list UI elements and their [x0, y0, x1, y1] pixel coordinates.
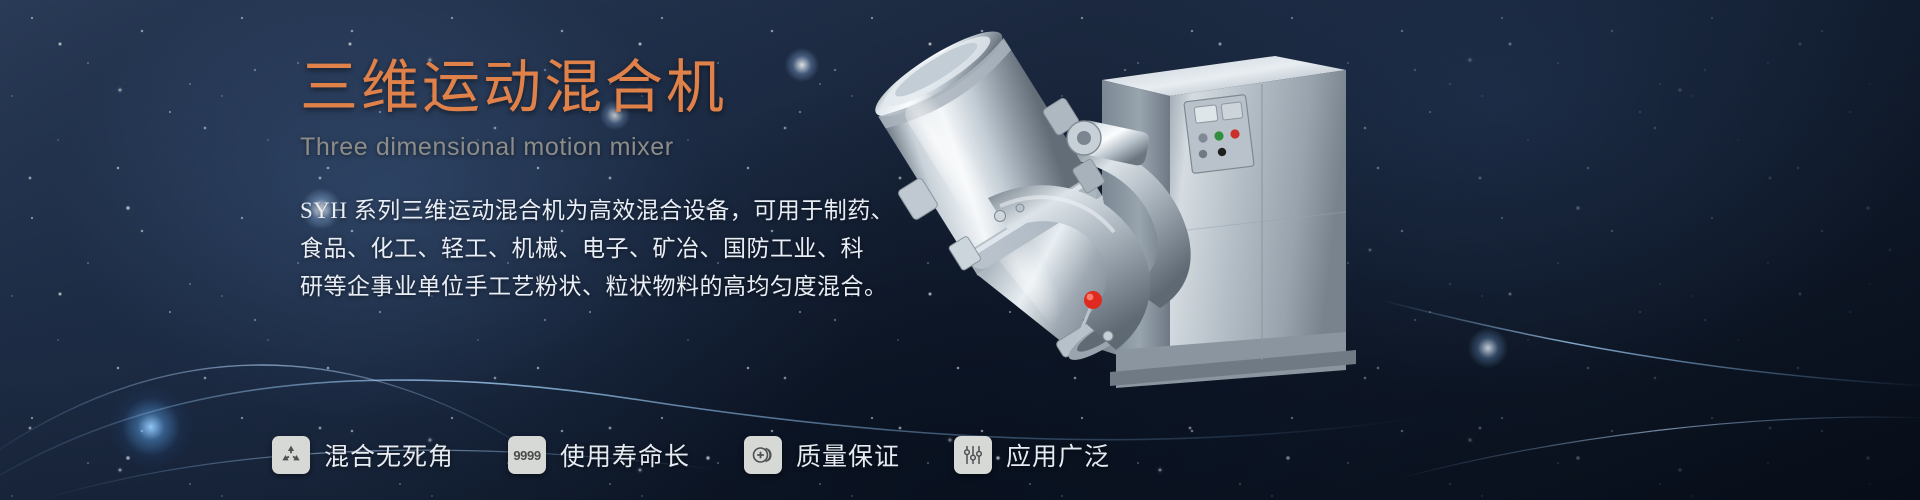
feature-item-lifespan: 9999 使用寿命长 — [508, 436, 690, 474]
star-glow-1 — [108, 384, 194, 470]
description-line-1: SYH 系列三维运动混合机为高效混合设备，可用于制药、 — [300, 192, 960, 230]
feature-list: 混合无死角 9999 使用寿命长 — [272, 436, 1110, 474]
product-hero-banner: 三维运动混合机 Three dimensional motion mixer S… — [0, 0, 1920, 500]
description-line-2: 食品、化工、轻工、机械、电子、矿冶、国防工业、科 — [300, 230, 960, 268]
hero-copy: 三维运动混合机 Three dimensional motion mixer S… — [300, 58, 960, 306]
mixer-cabinet — [1102, 56, 1356, 388]
feature-label-lifespan: 使用寿命长 — [560, 437, 690, 473]
page-title: 三维运动混合机 — [300, 58, 960, 119]
feature-label-mixing: 混合无死角 — [324, 437, 454, 473]
feature-item-mixing: 混合无死角 — [272, 436, 454, 474]
feature-label-application: 应用广泛 — [1006, 437, 1110, 473]
product-description: SYH 系列三维运动混合机为高效混合设备，可用于制药、 食品、化工、轻工、机械、… — [300, 192, 960, 306]
recycle-icon — [272, 436, 310, 474]
page-subtitle: Three dimensional motion mixer — [300, 133, 960, 162]
counter-9999-icon: 9999 — [508, 436, 546, 474]
feature-label-quality: 质量保证 — [796, 437, 900, 473]
product-image — [870, 20, 1490, 420]
feature-item-quality: 质量保证 — [744, 436, 900, 474]
mixer-illustration — [870, 20, 1490, 420]
control-panel — [1184, 94, 1254, 173]
counter-value: 9999 — [513, 448, 540, 463]
coins-quality-icon — [744, 436, 782, 474]
feature-item-application: 应用广泛 — [954, 436, 1110, 474]
description-line-3: 研等企事业单位手工艺粉状、粒状物料的高均匀度混合。 — [300, 268, 960, 306]
sliders-icon — [954, 436, 992, 474]
